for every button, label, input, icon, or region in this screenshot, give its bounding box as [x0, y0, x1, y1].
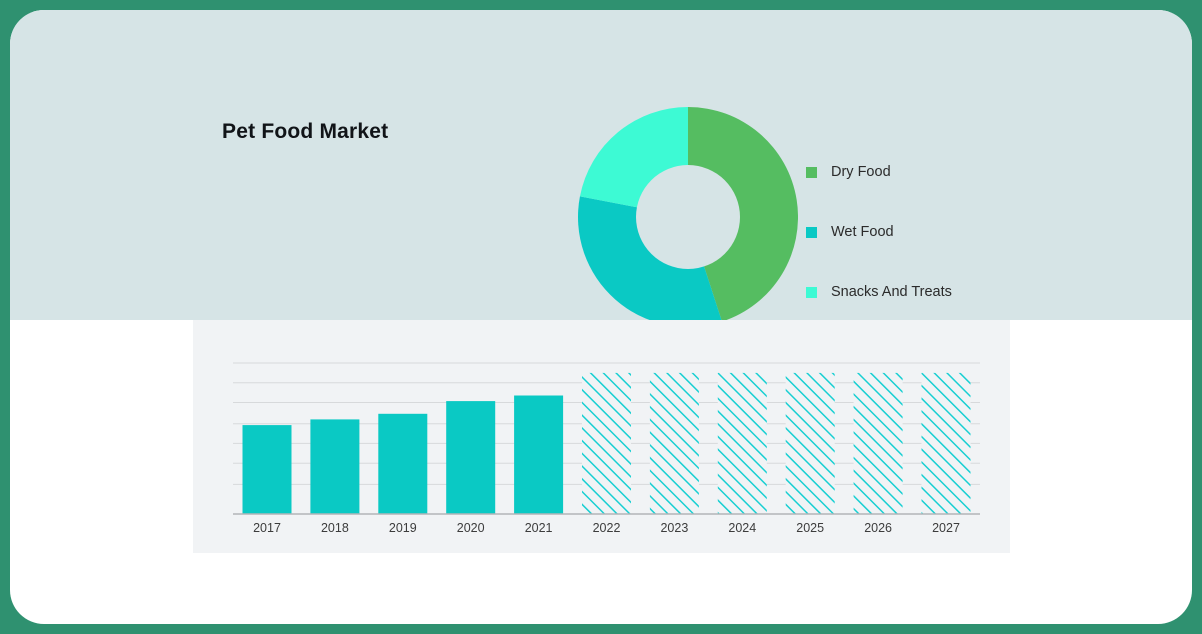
donut-hole — [636, 165, 740, 269]
legend-item-snacks-and-treats[interactable]: Snacks And Treats — [806, 262, 1026, 322]
bar-2022[interactable] — [582, 373, 631, 514]
x-tick-label-2020: 2020 — [457, 521, 485, 535]
x-tick-label-2021: 2021 — [525, 521, 553, 535]
slide-frame: Pet Food Market Dry Food Wet Food Snacks… — [0, 0, 1202, 634]
page-title: Pet Food Market — [222, 120, 388, 144]
legend-item-wet-food[interactable]: Wet Food — [806, 202, 1026, 262]
donut-legend: Dry Food Wet Food Snacks And Treats — [806, 142, 1026, 322]
x-tick-label-2023: 2023 — [660, 521, 688, 535]
bar-2020[interactable] — [446, 401, 495, 514]
bar-2018[interactable] — [310, 419, 359, 514]
bar-2027[interactable] — [922, 373, 971, 514]
legend-swatch-icon-wet-food — [806, 227, 817, 238]
bar-2017[interactable] — [243, 425, 292, 514]
x-axis-tick-labels: 2017201820192020202120222023202420252026… — [253, 521, 960, 535]
bar-2025[interactable] — [786, 373, 835, 514]
x-tick-label-2018: 2018 — [321, 521, 349, 535]
legend-label-wet-food: Wet Food — [831, 224, 894, 240]
x-tick-label-2022: 2022 — [593, 521, 621, 535]
legend-label-snacks-and-treats: Snacks And Treats — [831, 284, 952, 300]
x-tick-label-2027: 2027 — [932, 521, 960, 535]
x-tick-label-2017: 2017 — [253, 521, 281, 535]
bar-group — [243, 373, 971, 514]
x-tick-label-2024: 2024 — [728, 521, 756, 535]
legend-swatch-icon-dry-food — [806, 167, 817, 178]
x-tick-label-2026: 2026 — [864, 521, 892, 535]
x-tick-label-2019: 2019 — [389, 521, 417, 535]
x-tick-label-2025: 2025 — [796, 521, 824, 535]
bar-chart-panel: 2017201820192020202120222023202420252026… — [193, 320, 1010, 553]
bar-2019[interactable] — [378, 414, 427, 514]
donut-chart — [578, 107, 798, 327]
legend-swatch-icon-snacks-and-treats — [806, 287, 817, 298]
bar-2023[interactable] — [650, 373, 699, 514]
bar-chart: 2017201820192020202120222023202420252026… — [193, 320, 1010, 553]
bar-2026[interactable] — [854, 373, 903, 514]
donut-chart-svg — [578, 107, 798, 327]
legend-item-dry-food[interactable]: Dry Food — [806, 142, 1026, 202]
bar-2021[interactable] — [514, 396, 563, 515]
bar-2024[interactable] — [718, 373, 767, 514]
slide-card: Pet Food Market Dry Food Wet Food Snacks… — [10, 10, 1192, 624]
bar-chart-svg: 2017201820192020202120222023202420252026… — [193, 320, 1010, 553]
legend-label-dry-food: Dry Food — [831, 164, 891, 180]
